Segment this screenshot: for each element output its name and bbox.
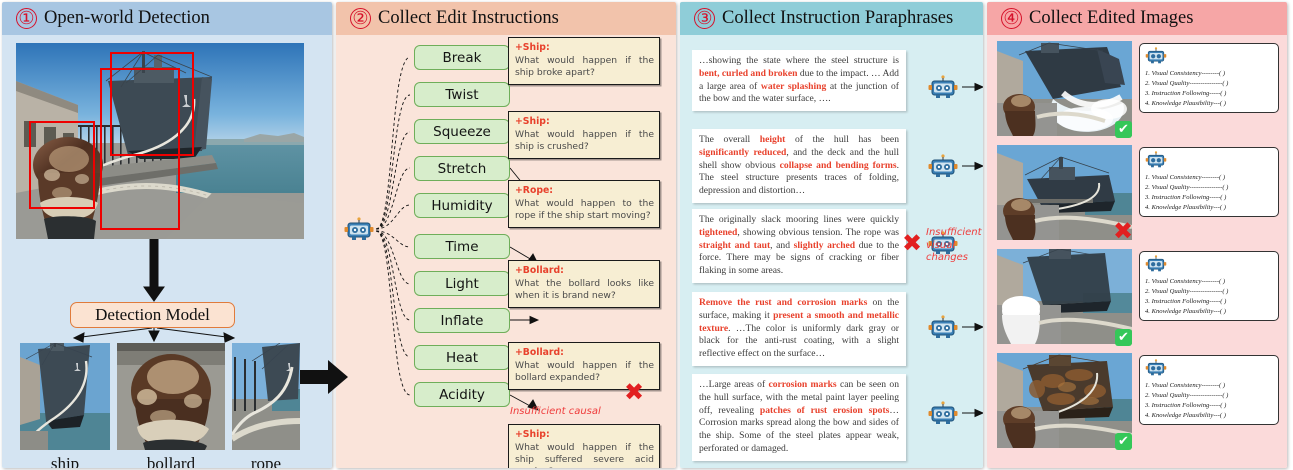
crop-bollard-image — [117, 343, 225, 450]
panel3-title: Collect Instruction Paraphrases — [722, 8, 953, 29]
panel-collect-edited-images: ④ Collect Edited Images — [987, 2, 1287, 468]
paraphrase-box-5: …Large areas of corrosion marks can be s… — [692, 374, 906, 461]
instruction-question: What would happen if the ship is crushed… — [515, 129, 654, 154]
paraphrase-text: , showing obvious tension. The rope was — [737, 227, 899, 238]
panel2-title: Collect Edit Instructions — [378, 8, 559, 29]
chip-label: Light — [445, 276, 479, 292]
panel1-title: Open-world Detection — [44, 8, 210, 29]
criterion-item: 2. Visual Quality---------------( ) — [1145, 287, 1273, 297]
panel3-body: …showing the state where the steel struc… — [680, 35, 983, 468]
criterion-item: 4. Knowledge Plausibility---( ) — [1145, 203, 1273, 213]
robot-badge — [1145, 359, 1273, 380]
source-image — [16, 43, 304, 239]
crop-bollard: bollard — [117, 343, 225, 468]
instruction-note-3: +Rope: What would happen to the rope if … — [508, 180, 660, 228]
pipeline-figure: ① Open-world Detection — [0, 0, 1293, 470]
chip-label: Time — [445, 239, 478, 255]
paraphrase-text: . …The color is uniformly dark gray or b… — [699, 323, 899, 360]
criterion-item: 4. Knowledge Plausibility---( ) — [1145, 411, 1273, 421]
highlighted-phrase: straight and taut — [699, 240, 770, 251]
paraphrase-box-4: Remove the rust and corrosion marks on t… — [692, 292, 906, 366]
criterion-item: 1. Visual Consistency--------( ) — [1145, 173, 1273, 183]
edit-chip-squeeze[interactable]: Squeeze — [414, 119, 510, 144]
edit-chip-acidity[interactable]: Acidity — [414, 382, 510, 407]
highlighted-phrase: significantly reduced — [699, 147, 786, 158]
panel4-header: ④ Collect Edited Images — [987, 2, 1287, 35]
chip-label: Heat — [446, 350, 478, 366]
instruction-target: +Rope: — [515, 185, 553, 196]
instruction-note-4: +Bollard: What the bollard looks like wh… — [508, 260, 660, 308]
panel1-number: ① — [16, 8, 37, 29]
robot-badge — [1145, 255, 1273, 276]
paraphrase-box-3: The originally slack mooring lines were … — [692, 209, 906, 283]
panel-collect-edit-instructions: ② Collect Edit Instructions — [336, 2, 676, 468]
edit-chip-light[interactable]: Light — [414, 271, 510, 296]
criterion-item: 3. Instruction Following-----( ) — [1145, 193, 1273, 203]
verdict-badge-2: ✖ — [1113, 219, 1133, 243]
bbox-bollard — [29, 121, 95, 209]
paraphrase-text: , and — [770, 240, 793, 251]
criterion-item: 4. Knowledge Plausibility---( ) — [1145, 99, 1273, 109]
highlighted-phrase: bent, curled and broken — [699, 68, 797, 79]
paraphrase-box-1: …showing the state where the steel struc… — [692, 50, 906, 111]
instruction-target: +Ship: — [515, 42, 550, 53]
instruction-target: +Ship: — [515, 429, 550, 440]
highlighted-phrase: tightened — [699, 227, 737, 238]
instruction-question: What would happen if the ship broke apar… — [515, 55, 654, 80]
criterion-item: 2. Visual Quality---------------( ) — [1145, 183, 1273, 193]
chip-label: Twist — [445, 87, 478, 103]
insufficient-visual-changes-label: Insufficient visual changes — [926, 227, 983, 265]
panel3-header: ③ Collect Instruction Paraphrases — [680, 2, 983, 35]
highlighted-phrase: water splashing — [761, 81, 826, 92]
chip-label: Break — [443, 50, 482, 66]
highlighted-phrase: collapse and bending forms — [780, 160, 897, 171]
instruction-reject-mark: ✖ — [624, 380, 644, 404]
instruction-question: What the bollard looks like when it is b… — [515, 278, 654, 303]
criterion-item: 3. Instruction Following-----( ) — [1145, 297, 1273, 307]
llm-robot-icon — [344, 217, 374, 241]
edit-chip-break[interactable]: Break — [414, 45, 510, 70]
edit-chip-heat[interactable]: Heat — [414, 345, 510, 370]
detected-crops: ship — [20, 343, 310, 468]
criteria-card-2: 1. Visual Consistency--------( ) 2. Visu… — [1139, 147, 1279, 217]
paraphrase-text: …showing the state where the steel struc… — [699, 55, 899, 66]
edit-chip-inflate[interactable]: Inflate — [414, 308, 510, 333]
criteria-card-3: 1. Visual Consistency--------( ) 2. Visu… — [1139, 251, 1279, 321]
llm-robot-icon — [928, 315, 958, 339]
crop-rope-label: rope — [232, 454, 300, 468]
edit-chip-twist[interactable]: Twist — [414, 82, 510, 107]
panel3-number: ③ — [694, 8, 715, 29]
panel1-header: ① Open-world Detection — [2, 2, 332, 35]
chip-label: Humidity — [431, 198, 492, 214]
paraphrase-text: …Large areas of — [699, 379, 768, 390]
llm-robot-icon — [928, 154, 958, 178]
criterion-item: 1. Visual Consistency--------( ) — [1145, 381, 1273, 391]
crop-rope: rope — [232, 343, 300, 468]
criteria-card-4: 1. Visual Consistency--------( ) 2. Visu… — [1139, 355, 1279, 425]
panel1-body: Detection Model — [2, 35, 332, 468]
llm-robot-icon — [928, 401, 958, 425]
panel4-body: 1. Visual Consistency--------( ) 2. Visu… — [987, 35, 1287, 468]
chip-label: Acidity — [439, 387, 485, 403]
paraphrase-box-2: The overall height of the hull has been … — [692, 129, 906, 203]
robot-badge — [1145, 47, 1273, 68]
chip-label: Stretch — [438, 161, 487, 177]
paraphrase-text: of the hull has been — [785, 134, 899, 145]
panel2-header: ② Collect Edit Instructions — [336, 2, 676, 35]
criterion-item: 1. Visual Consistency--------( ) — [1145, 69, 1273, 79]
verdict-badge-4: ✔ — [1115, 433, 1132, 450]
edited-image-2 — [997, 145, 1132, 240]
criterion-item: 2. Visual Quality---------------( ) — [1145, 391, 1273, 401]
verdict-badge-3: ✔ — [1115, 329, 1132, 346]
crop-ship-image — [20, 343, 110, 450]
highlighted-phrase: corrosion marks — [768, 379, 836, 390]
instruction-target: +Bollard: — [515, 347, 564, 358]
detection-model-box: Detection Model — [70, 302, 235, 328]
instruction-target: +Bollard: — [515, 265, 564, 276]
crop-bollard-label: bollard — [117, 454, 225, 468]
criterion-item: 3. Instruction Following-----( ) — [1145, 89, 1273, 99]
edit-chip-stretch[interactable]: Stretch — [414, 156, 510, 181]
panel-collect-instruction-paraphrases: ③ Collect Instruction Paraphrases …showi… — [680, 2, 983, 468]
criterion-item: 4. Knowledge Plausibility---( ) — [1145, 307, 1273, 317]
robot-badge — [1145, 151, 1273, 172]
edited-image-4 — [997, 353, 1132, 448]
edit-chip-humidity[interactable]: Humidity — [414, 193, 510, 218]
detection-model-label: Detection Model — [95, 305, 210, 325]
instruction-target: +Ship: — [515, 116, 550, 127]
criteria-card-1: 1. Visual Consistency--------( ) 2. Visu… — [1139, 43, 1279, 113]
edited-image-3 — [997, 249, 1132, 344]
chip-label: Inflate — [441, 313, 484, 329]
crop-rope-image — [232, 343, 300, 450]
panel4-title: Collect Edited Images — [1029, 8, 1193, 29]
paraphrase-reject-mark: ✖ — [902, 231, 922, 255]
criterion-item: 3. Instruction Following-----( ) — [1145, 401, 1273, 411]
highlighted-phrase: Remove the rust and corrosion marks — [699, 297, 867, 308]
highlighted-phrase: patches of rust erosion spots — [760, 405, 890, 416]
bbox-rope — [100, 68, 180, 230]
verdict-badge-1: ✔ — [1115, 121, 1132, 138]
instruction-note-6: +Ship: What would happen if the ship suf… — [508, 424, 660, 468]
edit-chip-time[interactable]: Time — [414, 234, 510, 259]
instruction-note-2: +Ship: What would happen if the ship is … — [508, 111, 660, 159]
panel-open-world-detection: ① Open-world Detection — [2, 2, 332, 468]
instruction-question: What would happen if the ship suffered s… — [515, 442, 654, 468]
panel4-number: ④ — [1001, 8, 1022, 29]
paraphrase-text: The originally slack mooring lines were … — [699, 214, 899, 225]
criterion-item: 1. Visual Consistency--------( ) — [1145, 277, 1273, 287]
panel2-number: ② — [350, 8, 371, 29]
crop-ship-label: ship — [20, 454, 110, 468]
insufficient-causal-label: Insufficient causal — [510, 406, 601, 417]
crop-ship: ship — [20, 343, 110, 468]
instruction-note-1: +Ship: What would happen if the ship bro… — [508, 37, 660, 85]
instruction-question: What would happen to the rope if the shi… — [515, 198, 654, 223]
llm-robot-icon — [928, 75, 958, 99]
paraphrase-text: The overall — [699, 134, 760, 145]
edited-image-1 — [997, 41, 1132, 136]
criterion-item: 2. Visual Quality---------------( ) — [1145, 79, 1273, 89]
highlighted-phrase: slightly arched — [794, 240, 856, 251]
panel2-body: Break Twist Squeeze Stretch Humidity Tim… — [336, 35, 676, 468]
highlighted-phrase: height — [760, 134, 786, 145]
chip-label: Squeeze — [433, 124, 491, 140]
